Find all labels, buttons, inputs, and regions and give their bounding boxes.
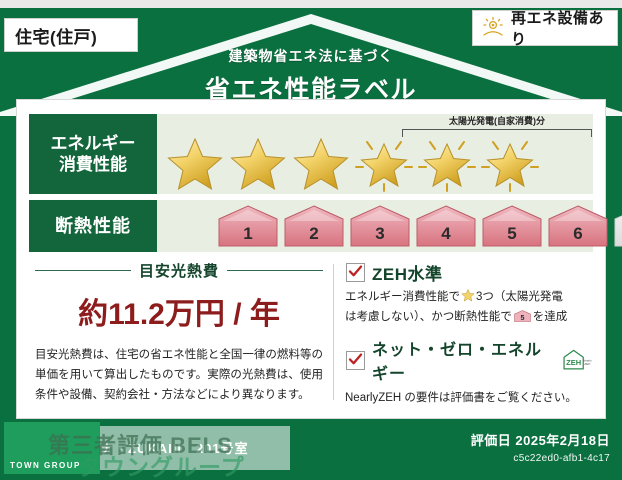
star-icon (291, 134, 351, 192)
star-6-solar (480, 134, 540, 192)
insulation-level-2: 2 (283, 204, 345, 248)
mini-house-icon: 5 (514, 309, 531, 323)
insulation-level-number: 2 (283, 224, 345, 244)
vertical-divider (333, 264, 334, 400)
energy-performance-row-body: 太陽光発電(自家消費)分 (157, 114, 593, 194)
net-zero-energy-description: NearlyZEH の要件は評価書をご覧ください。 (345, 389, 593, 409)
insulation-performance-row: 断熱性能 (29, 200, 593, 252)
energy-performance-label: 建築物省エネ法に基づく 省エネ性能ラベル 住宅(住戸) 再エネ設備あり (0, 0, 622, 480)
solar-generation-label: 太陽光発電(自家消費)分 (402, 114, 592, 127)
building-type-label: 住宅(住戸) (15, 23, 97, 48)
star-icon (354, 134, 414, 192)
energy-label-line1: エネルギー (51, 134, 136, 153)
label-card: エネルギー 消費性能 太陽光発電(自家消費)分 (17, 100, 605, 418)
star-icon (417, 134, 477, 192)
zeh-block: ZEH水準 エネルギー消費性能で3つ（太陽光発電 は考慮しない）、かつ断熱性能で… (344, 258, 593, 406)
star-icon (480, 134, 540, 192)
energy-label-line2: 消費性能 (59, 155, 127, 174)
label-footer: フォルトゥーナ・ZUKAIII 201号室 評価日 2025年2月18日 c5c… (0, 424, 622, 480)
zeh-badge-icon: ZEH Nearly ZEH (562, 347, 594, 373)
zeh-standard-title: ZEH水準 (372, 260, 443, 285)
insulation-level-5: 5 (481, 204, 543, 248)
insulation-level-number: 7 (613, 224, 622, 244)
net-zero-energy-checkbox[interactable] (346, 351, 365, 370)
star-1 (165, 134, 225, 192)
net-zero-energy-title: ネット・ゼロ・エネルギー (372, 336, 551, 384)
energy-performance-row-label: エネルギー 消費性能 (29, 114, 157, 194)
net-zero-energy-row: ネット・ゼロ・エネルギー ZEH Nearly ZEH (346, 336, 593, 384)
cost-heading-row: 目安光熱費 (35, 260, 323, 281)
insulation-level-6: 6 (547, 204, 609, 248)
lower-section: 目安光熱費 約11.2万円 / 年 目安光熱費は、住宅の省エネ性能と全国一律の燃… (29, 258, 593, 406)
insulation-row-body: 1 2 3 (157, 200, 593, 252)
insulation-level-number: 6 (547, 224, 609, 244)
zeh-standard-description: エネルギー消費性能で3つ（太陽光発電 は考慮しない）、かつ断熱性能で5を達成 (345, 288, 593, 327)
renewable-equipment-badge: 再エネ設備あり (472, 10, 618, 46)
check-icon (348, 264, 363, 279)
property-address: フォルトゥーナ・ZUKAIII 201号室 (16, 438, 249, 457)
zeh-standard-checkbox[interactable] (346, 263, 365, 282)
heading-rule-left (35, 270, 131, 271)
cost-note: 目安光熱費は、住宅の省エネ性能と全国一律の燃料等の単価を用いて算出したものです。… (35, 345, 323, 405)
star-3 (291, 134, 351, 192)
insulation-level-number: 4 (415, 224, 477, 244)
estimated-utility-cost-block: 目安光熱費 約11.2万円 / 年 目安光熱費は、住宅の省エネ性能と全国一律の燃… (29, 258, 329, 406)
svg-text:ZEH: ZEH (566, 358, 581, 367)
insulation-row-label: 断熱性能 (29, 200, 157, 252)
sun-icon (481, 16, 505, 40)
svg-text:ZEH: ZEH (584, 362, 590, 366)
mini-star-icon (461, 288, 475, 302)
energy-performance-row: エネルギー 消費性能 太陽光発電(自家消費)分 (29, 114, 593, 194)
evaluation-id: c5c22ed0-afb1-4c17 (471, 453, 610, 464)
insulation-level-7: 7 (613, 204, 622, 248)
energy-star-rating (165, 134, 585, 192)
insulation-level-number: 1 (217, 224, 279, 244)
insulation-level-4: 4 (415, 204, 477, 248)
evaluation-date: 評価日 2025年2月18日 (471, 430, 610, 449)
heading-rule-right (227, 270, 323, 271)
label-title-block: 建築物省エネ法に基づく 省エネ性能ラベル (0, 46, 622, 106)
star-icon (228, 134, 288, 192)
cost-heading: 目安光熱費 (139, 260, 219, 281)
label-subtitle: 建築物省エネ法に基づく (0, 46, 622, 66)
insulation-level-number: 5 (481, 224, 543, 244)
insulation-level-3: 3 (349, 204, 411, 248)
cost-value: 約11.2万円 / 年 (29, 289, 329, 333)
star-icon (165, 134, 225, 192)
star-4-solar (354, 134, 414, 192)
zeh-standard-row: ZEH水準 (346, 260, 593, 285)
insulation-level-scale: 1 2 3 (217, 204, 622, 248)
insulation-level-1: 1 (217, 204, 279, 248)
insulation-level-number: 3 (349, 224, 411, 244)
zeh-desc-part3: を達成 (533, 311, 568, 323)
zeh-desc-part2: は考慮しない）、かつ断熱性能で (345, 311, 512, 323)
zeh-desc-star: 3つ（太陽光発電 (476, 291, 563, 303)
star-5-solar (417, 134, 477, 192)
check-icon (348, 352, 363, 367)
footer-meta: 評価日 2025年2月18日 c5c22ed0-afb1-4c17 (471, 430, 610, 464)
svg-text:5: 5 (520, 313, 524, 321)
star-2 (228, 134, 288, 192)
renewable-equipment-label: 再エネ設備あり (511, 7, 617, 49)
zeh-desc-part1: エネルギー消費性能で (345, 291, 460, 303)
